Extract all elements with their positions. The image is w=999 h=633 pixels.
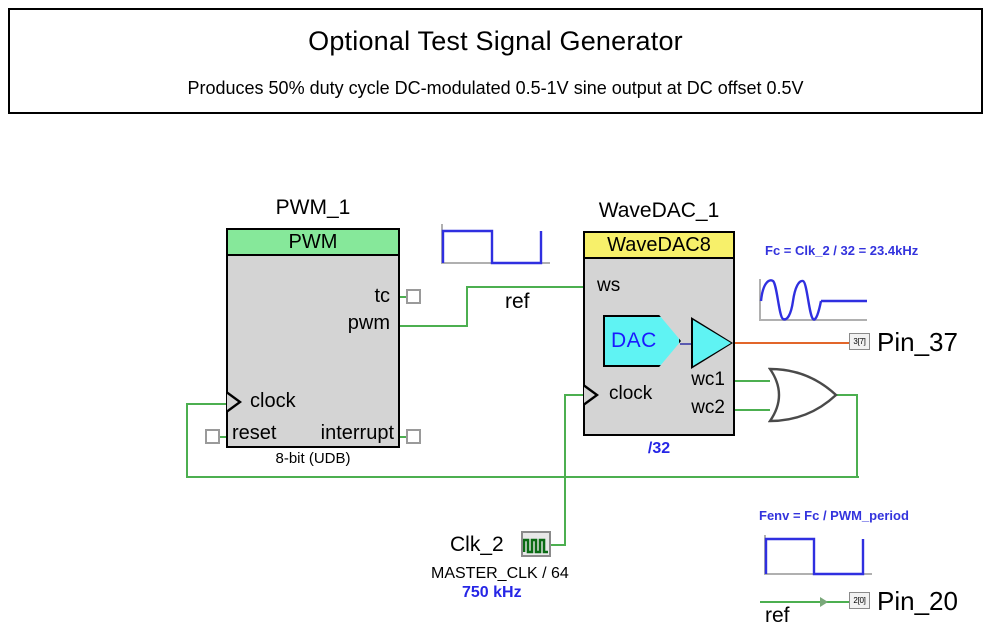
wire-clk2-riser [564,394,566,546]
pwm-type-header: PWM [228,230,398,256]
wavedac-clock-arrow-inner-icon [584,387,595,403]
pin20-terminal-box[interactable]: 2[0] [849,592,870,609]
dac-sine-waveform [757,277,869,329]
or-gate-symbol[interactable] [768,366,840,424]
schematic-canvas: Optional Test Signal Generator Produces … [0,0,999,633]
pwm-port-pwm[interactable]: pwm [348,312,390,335]
dac-label: DAC [611,329,657,353]
wavedac-port-wc2[interactable]: wc2 [691,397,725,419]
wavedac-port-clock[interactable]: clock [609,383,652,405]
pwm-reset-terminal[interactable] [205,429,220,444]
wire-pwmclk-v [186,403,188,478]
wire-clk2-to-wavedac-clock [564,394,585,396]
amplifier-symbol [693,320,731,366]
wire-feedback-bus [186,476,859,478]
clk2-divider-label: MASTER_CLK / 64 [431,565,569,583]
clock-source-icon[interactable] [521,531,551,557]
pwm-instance-name: PWM_1 [226,196,400,220]
pwm-component-block[interactable]: PWM tc pwm clock reset interrupt [226,228,400,448]
fc-annotation: Fc = Clk_2 / 32 = 23.4kHz [765,243,918,258]
header-banner: Optional Test Signal Generator Produces … [8,8,983,114]
pin37-terminal-box[interactable]: 3[7] [849,333,870,350]
fenv-annotation: Fenv = Fc / PWM_period [759,508,909,523]
ref-label-top: ref [505,290,530,314]
wire-dac-to-pin37 [718,342,850,344]
wavedac-port-ws[interactable]: ws [597,275,620,297]
pwm-interrupt-terminal[interactable] [406,429,421,444]
pwm-port-reset[interactable]: reset [232,422,276,445]
wavedac-instance-name: WaveDAC_1 [583,199,735,223]
wavedac-port-wc1[interactable]: wc1 [691,369,725,391]
clk2-name-label: Clk_2 [450,533,504,557]
clk2-frequency-label: 750 kHz [462,584,522,602]
wire-or-out-v [856,394,858,478]
pin37-label: Pin_37 [877,327,958,358]
pwm-square-waveform [440,220,552,270]
wavedac-footer-label: /32 [583,440,735,458]
pwm-footer-label: 8-bit (UDB) [226,450,400,467]
wire-pwm-to-ref-h1 [400,325,468,327]
pwm-port-clock[interactable]: clock [250,390,296,413]
pwm-port-interrupt[interactable]: interrupt [321,422,394,445]
pwm-tc-terminal[interactable] [406,289,421,304]
wire-ref-to-ws [466,286,585,288]
wire-clk2-icon-out [549,544,566,546]
wire-dac-to-amp [680,343,692,345]
envelope-square-waveform [762,531,874,581]
wire-pwmclk-h [186,403,228,405]
pin20-label: Pin_20 [877,586,958,617]
wire-direction-arrow-icon [820,597,828,607]
wire-wc1-to-or [735,380,770,382]
page-subtitle: Produces 50% duty cycle DC-modulated 0.5… [10,78,981,99]
pwm-clock-arrow-inner-icon [227,394,238,410]
ref-label-bottom: ref [765,604,790,628]
page-title: Optional Test Signal Generator [10,26,981,57]
wavedac-component-block[interactable]: WaveDAC8 ws clock wc1 wc2 DAC [583,231,735,436]
pwm-port-tc[interactable]: tc [374,285,390,308]
wavedac-type-header: WaveDAC8 [585,233,733,259]
wire-wc2-to-or [735,409,770,411]
wire-pwm-to-ref-v [466,286,468,327]
wire-ref-to-pin20 [760,601,850,603]
